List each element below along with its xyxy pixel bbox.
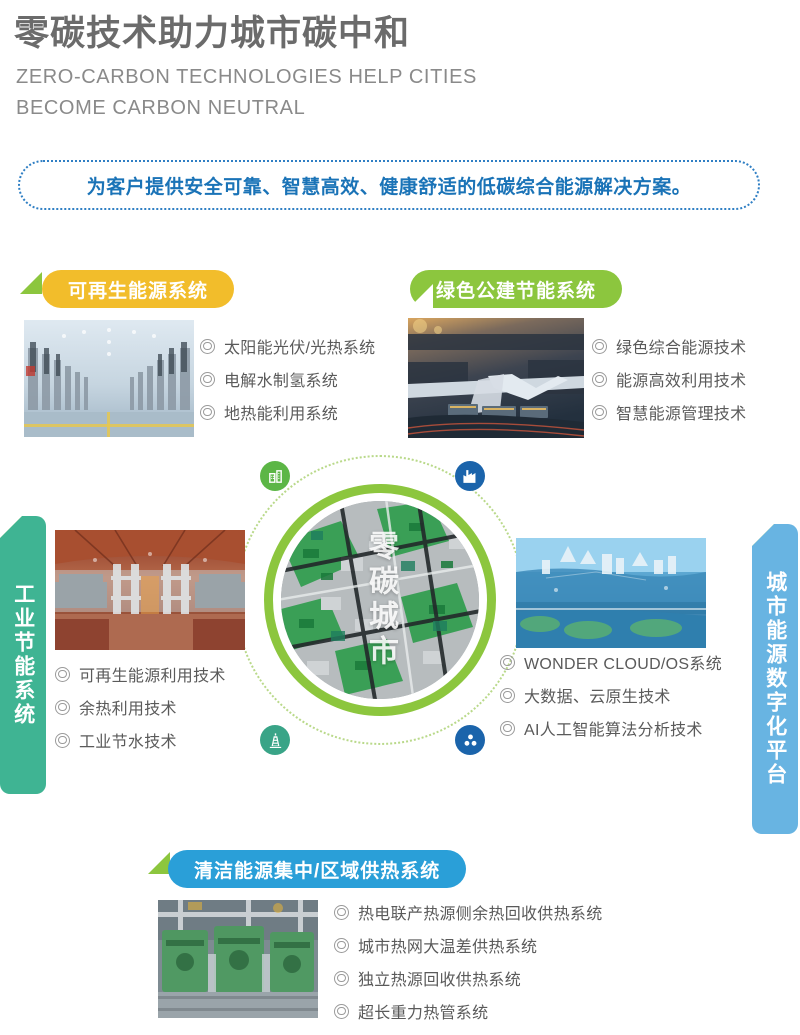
bullet-icon [200, 339, 215, 354]
bullet-icon [55, 733, 70, 748]
list-item: 绿色综合能源技术 [592, 334, 746, 358]
list-item: 能源高效利用技术 [592, 367, 746, 391]
green-building-header-notch [409, 284, 433, 308]
list-item: 工业节水技术 [55, 728, 226, 752]
badge-derrick [260, 725, 290, 755]
list-item: 城市热网大温差供热系统 [334, 933, 603, 957]
clean-heating-photo [158, 900, 318, 1018]
bullet-icon [200, 372, 215, 387]
list-item: AI人工智能算法分析技术 [500, 716, 722, 740]
industrial-tab-label: 工业节能系统 [11, 583, 35, 727]
factory-icon [462, 468, 479, 485]
green-building-header: 绿色公建节能系统 [410, 270, 622, 308]
list-item: 超长重力热管系统 [334, 999, 603, 1023]
renewable-list: 太阳能光伏/光热系统 电解水制氢系统 地热能利用系统 [200, 334, 375, 433]
page-title-en-line1: ZERO-CARBON TECHNOLOGIES HELP CITIES [16, 62, 477, 93]
clean-heating-header-label: 清洁能源集中/区域供热系统 [194, 856, 440, 883]
list-item: 可再生能源利用技术 [55, 662, 226, 686]
industrial-tab-notch [0, 516, 22, 538]
list-item: 地热能利用系统 [200, 400, 375, 424]
buildings-icon [267, 468, 284, 485]
infographic-page: 零碳技术助力城市碳中和 ZERO-CARBON TECHNOLOGIES HEL… [0, 0, 800, 1035]
bullet-icon [592, 405, 607, 420]
list-item: 余热利用技术 [55, 695, 226, 719]
renewable-header: 可再生能源系统 [42, 270, 234, 308]
list-item: 热电联产热源侧余热回收供热系统 [334, 900, 603, 924]
clean-heating-header: 清洁能源集中/区域供热系统 [168, 850, 466, 888]
derrick-icon [267, 732, 284, 749]
hub-label: 零碳城市 [281, 501, 479, 699]
green-building-list: 绿色综合能源技术 能源高效利用技术 智慧能源管理技术 [592, 334, 746, 433]
list-item: 太阳能光伏/光热系统 [200, 334, 375, 358]
bullet-icon [55, 700, 70, 715]
bullet-icon [334, 971, 349, 986]
bullet-icon [334, 938, 349, 953]
bullet-icon [334, 905, 349, 920]
green-building-header-label: 绿色公建节能系统 [436, 276, 596, 303]
green-building-photo [408, 318, 584, 438]
industrial-tab: 工业节能系统 [0, 516, 46, 794]
renewable-header-accent [20, 272, 42, 294]
hub-photo: 零碳城市 [281, 501, 479, 699]
page-title-en: ZERO-CARBON TECHNOLOGIES HELP CITIES BEC… [16, 62, 477, 124]
bullet-icon [592, 372, 607, 387]
subtitle-banner: 为客户提供安全可靠、智慧高效、健康舒适的低碳综合能源解决方案。 [18, 160, 760, 210]
badge-factory [455, 461, 485, 491]
digital-platform-tab: 城市能源数字化平台 [752, 524, 798, 834]
molecule-icon [462, 732, 479, 749]
page-title-en-line2: BECOME CARBON NEUTRAL [16, 93, 477, 124]
bullet-icon [592, 339, 607, 354]
clean-heating-header-accent [148, 852, 170, 874]
bullet-icon [500, 655, 515, 670]
digital-platform-tab-notch [752, 524, 774, 546]
digital-platform-photo [516, 538, 706, 648]
bullet-icon [55, 667, 70, 682]
bullet-icon [334, 1004, 349, 1019]
renewable-header-label: 可再生能源系统 [68, 276, 208, 303]
bullet-icon [500, 721, 515, 736]
renewable-photo [24, 320, 194, 437]
industrial-list: 可再生能源利用技术 余热利用技术 工业节水技术 [55, 662, 226, 761]
list-item: WONDER CLOUD/OS系统 [500, 650, 722, 674]
industrial-photo [55, 530, 245, 650]
clean-heating-list: 热电联产热源侧余热回收供热系统 城市热网大温差供热系统 独立热源回收供热系统 超… [334, 900, 603, 1032]
list-item: 电解水制氢系统 [200, 367, 375, 391]
digital-platform-list: WONDER CLOUD/OS系统 大数据、云原生技术 AI人工智能算法分析技术 [500, 650, 722, 749]
bullet-icon [200, 405, 215, 420]
bullet-icon [500, 688, 515, 703]
digital-platform-tab-label: 城市能源数字化平台 [763, 571, 787, 787]
subtitle-text: 为客户提供安全可靠、智慧高效、健康舒适的低碳综合能源解决方案。 [87, 172, 692, 199]
badge-molecule [455, 725, 485, 755]
list-item: 智慧能源管理技术 [592, 400, 746, 424]
badge-buildings [260, 461, 290, 491]
page-title-cn: 零碳技术助力城市碳中和 [14, 14, 410, 54]
list-item: 大数据、云原生技术 [500, 683, 722, 707]
list-item: 独立热源回收供热系统 [334, 966, 603, 990]
